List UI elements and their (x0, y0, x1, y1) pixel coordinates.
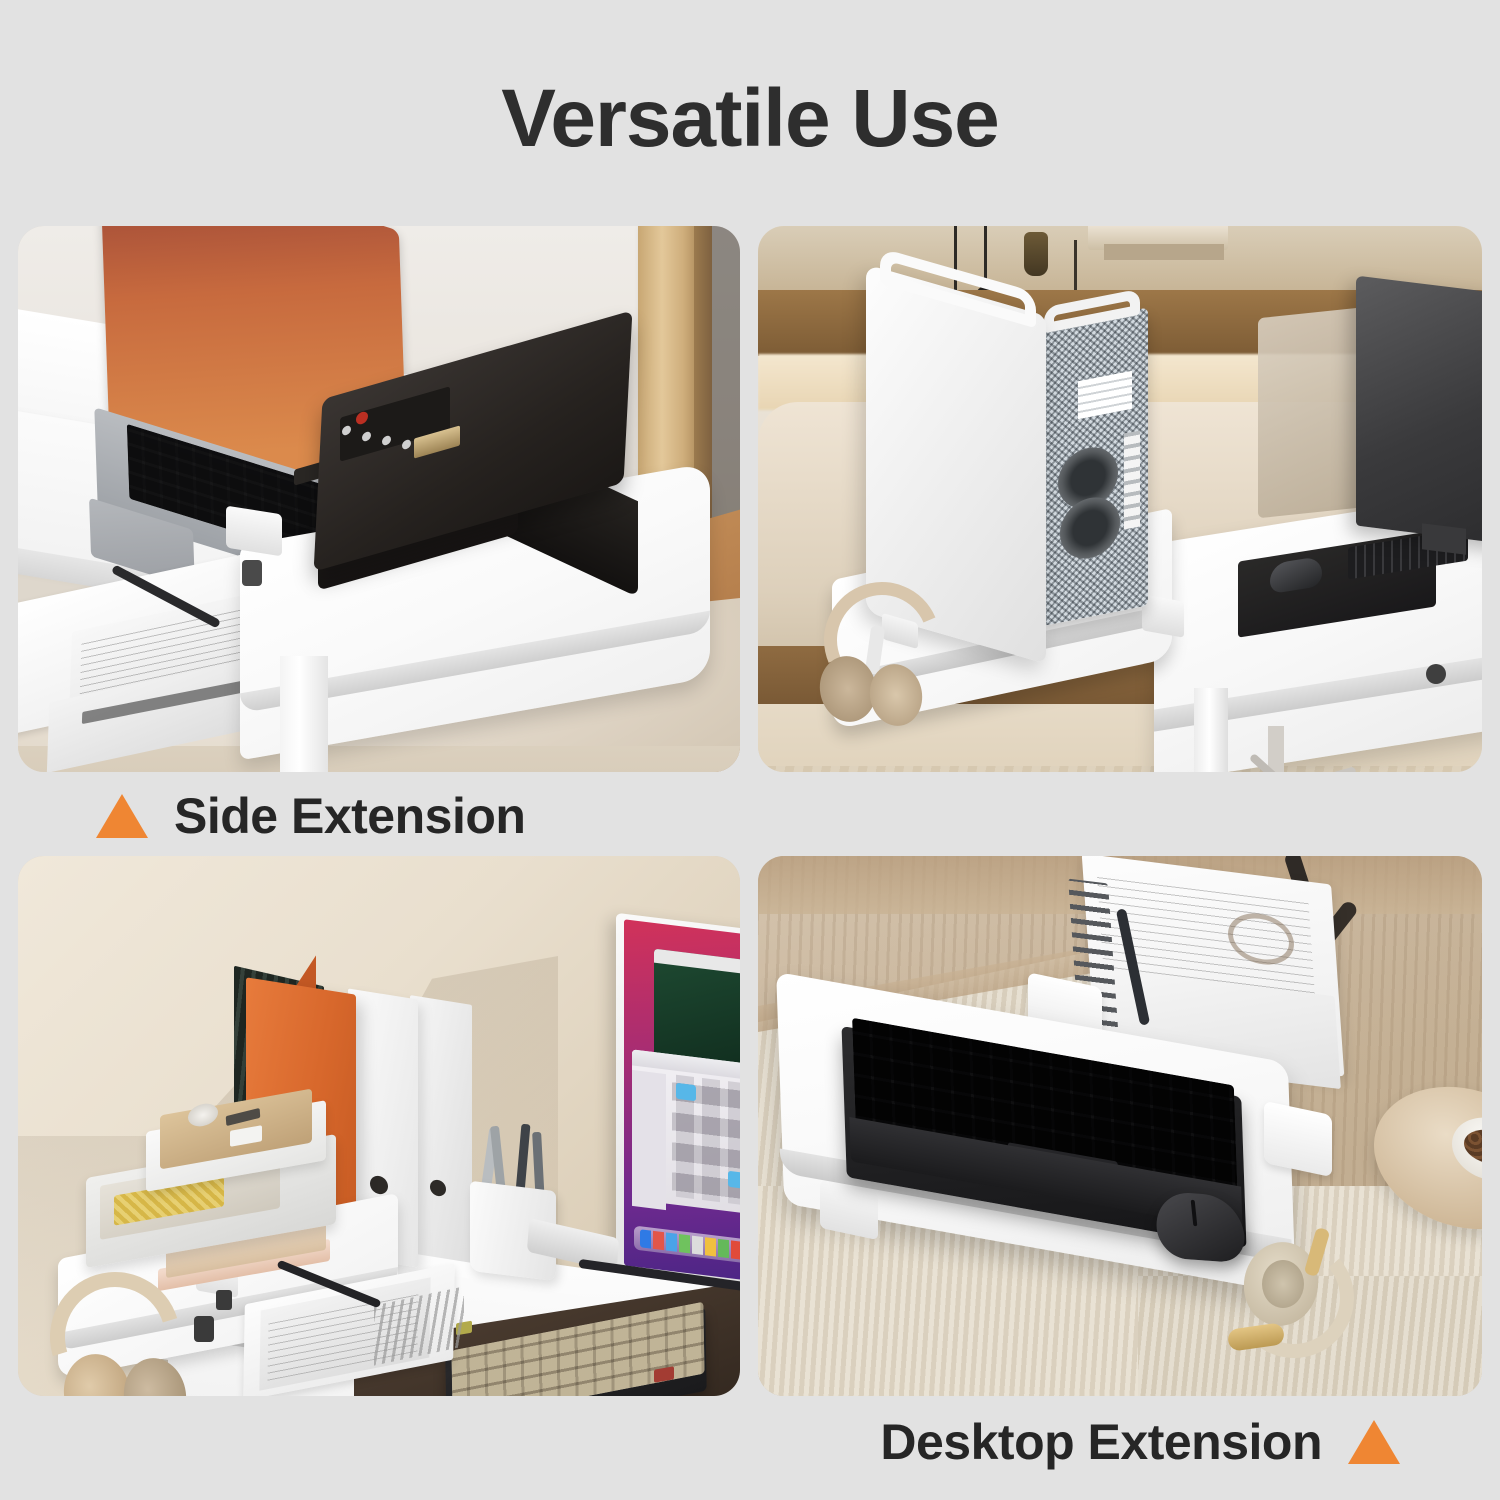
desk-leg (280, 656, 328, 772)
shelf-clamp-screw (242, 560, 262, 586)
screen-folder-icon (728, 1171, 740, 1189)
shelf-clamp-knob (216, 1290, 232, 1310)
door-gap (710, 226, 740, 526)
screen-finder-sidebar (632, 1070, 666, 1210)
chair-caster (1426, 664, 1446, 684)
caption-side-extension-label: Side Extension (174, 791, 525, 841)
panel-keyboard-tray (758, 856, 1482, 1396)
panel-organizers (18, 856, 740, 1396)
pc-ports (1124, 430, 1140, 529)
monitor-stand (1422, 523, 1466, 554)
shelf-clamp (1142, 594, 1184, 637)
panel-printer (18, 226, 740, 772)
desk-leg (1194, 688, 1228, 772)
monitor (1356, 276, 1482, 547)
caption-desktop-extension-label: Desktop Extension (880, 1417, 1322, 1467)
page-title: Versatile Use (0, 72, 1500, 166)
panel-pc-tower (758, 226, 1482, 772)
headphones-earpad (1262, 1260, 1304, 1308)
area-rug (758, 766, 1482, 772)
screen-folder-icon (676, 1083, 696, 1101)
decor-bottle (1024, 232, 1048, 276)
keyboard-tray-scene (758, 856, 1482, 1396)
caption-desktop-extension: Desktop Extension (880, 1404, 1400, 1480)
triangle-up-icon (1348, 1420, 1400, 1464)
printer-scene (18, 226, 740, 772)
pc-tower-scene (758, 226, 1482, 772)
shelf-clamp (226, 506, 282, 557)
background-books-lower (1104, 244, 1224, 260)
headphone-hook (194, 1316, 214, 1342)
magazine-file-white (410, 995, 472, 1263)
caption-side-extension: Side Extension (96, 778, 525, 854)
organizers-scene (18, 856, 740, 1396)
chair-gas-cylinder (1268, 726, 1284, 772)
triangle-up-icon (96, 794, 148, 838)
